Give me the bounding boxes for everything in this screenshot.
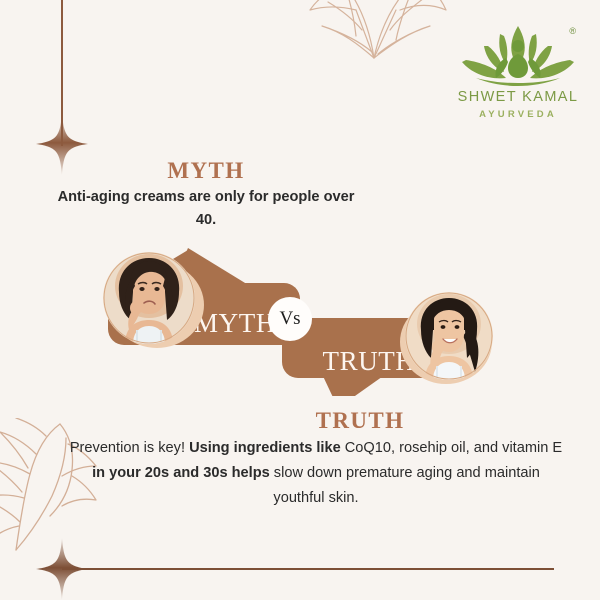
truth-body-text: Prevention is key! Using ingredients lik… bbox=[66, 436, 566, 511]
brand-subtitle: AYURVEDA bbox=[448, 109, 588, 120]
top-leaf-icon bbox=[300, 0, 450, 61]
vs-badge: Vs bbox=[268, 297, 312, 341]
myth-body-text: Anti-aging creams are only for people ov… bbox=[56, 186, 356, 231]
poster-canvas: ® SHWET KAMAL AYURVEDA MYTH Anti-ag bbox=[0, 0, 600, 600]
registered-trademark-icon: ® bbox=[569, 26, 576, 36]
lotus-icon bbox=[448, 22, 588, 88]
truth-heading: TRUTH bbox=[190, 408, 530, 434]
bottom-sparkle-icon bbox=[36, 538, 88, 600]
brand-name: SHWET KAMAL bbox=[448, 89, 588, 105]
bottom-sparkle-line bbox=[62, 568, 554, 570]
brand-logo: ® SHWET KAMAL AYURVEDA bbox=[448, 22, 588, 130]
myth-photo bbox=[103, 252, 195, 344]
myth-heading: MYTH bbox=[0, 158, 412, 184]
truth-photo bbox=[405, 292, 493, 380]
